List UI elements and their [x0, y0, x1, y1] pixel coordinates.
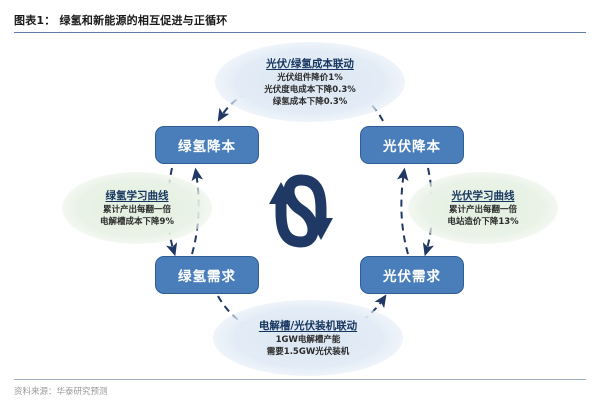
- callout-top-line-1: 光伏组件降价1%: [215, 72, 405, 84]
- node-green-hydrogen-demand: 绿氢需求: [155, 256, 259, 294]
- callout-left-title: 绿氢学习曲线: [62, 189, 212, 204]
- page-title: 图表1： 绿氢和新能源的相互促进与正循环: [14, 14, 586, 28]
- callout-top: 光伏/绿氢成本联动 光伏组件降价1% 光伏度电成本下降0.3% 绿氢成本下降0.…: [215, 42, 405, 122]
- callout-left-line-1: 累计产出每翻一倍: [62, 204, 212, 216]
- footer-divider: [14, 379, 586, 380]
- cycle-diagram: 光伏/绿氢成本联动 光伏组件降价1% 光伏度电成本下降0.3% 绿氢成本下降0.…: [0, 38, 600, 376]
- callout-bottom-line-1: 1GW电解槽产能: [213, 334, 403, 346]
- source-note: 资料来源：华泰研究预测: [14, 386, 108, 398]
- header-divider: [14, 32, 586, 33]
- recycle-loop-icon: [255, 170, 347, 252]
- node-pv-demand-label: 光伏需求: [383, 265, 441, 285]
- callout-right-title: 光伏学习曲线: [408, 189, 558, 204]
- callout-right-line-2: 电站造价下降13%: [408, 216, 558, 228]
- exhibit-header: 图表1： 绿氢和新能源的相互促进与正循环: [14, 14, 586, 38]
- node-green-hydrogen-demand-label: 绿氢需求: [178, 265, 236, 285]
- callout-left-line-2: 电解槽成本下降9%: [62, 216, 212, 228]
- node-green-hydrogen-cost-reduction: 绿氢降本: [155, 126, 259, 164]
- callout-top-line-3: 绿氢成本下降0.3%: [215, 96, 405, 108]
- callout-bottom-line-2: 需要1.5GW光伏装机: [213, 346, 403, 358]
- node-pv-demand: 光伏需求: [360, 256, 464, 294]
- arrow-pv-dem-to-pv-cost: [401, 172, 408, 254]
- callout-bottom: 电解槽/光伏装机联动 1GW电解槽产能 需要1.5GW光伏装机: [213, 300, 403, 376]
- callout-bottom-title: 电解槽/光伏装机联动: [213, 319, 403, 334]
- callout-right-line-1: 累计产出每翻一倍: [408, 204, 558, 216]
- node-pv-cost-reduction-label: 光伏降本: [383, 135, 441, 155]
- node-pv-cost-reduction: 光伏降本: [360, 126, 464, 164]
- callout-left: 绿氢学习曲线 累计产出每翻一倍 电解槽成本下降9%: [62, 172, 212, 244]
- callout-top-title: 光伏/绿氢成本联动: [215, 57, 405, 72]
- callout-top-line-2: 光伏度电成本下降0.3%: [215, 84, 405, 96]
- node-green-hydrogen-cost-reduction-label: 绿氢降本: [178, 135, 236, 155]
- callout-right: 光伏学习曲线 累计产出每翻一倍 电站造价下降13%: [408, 172, 558, 244]
